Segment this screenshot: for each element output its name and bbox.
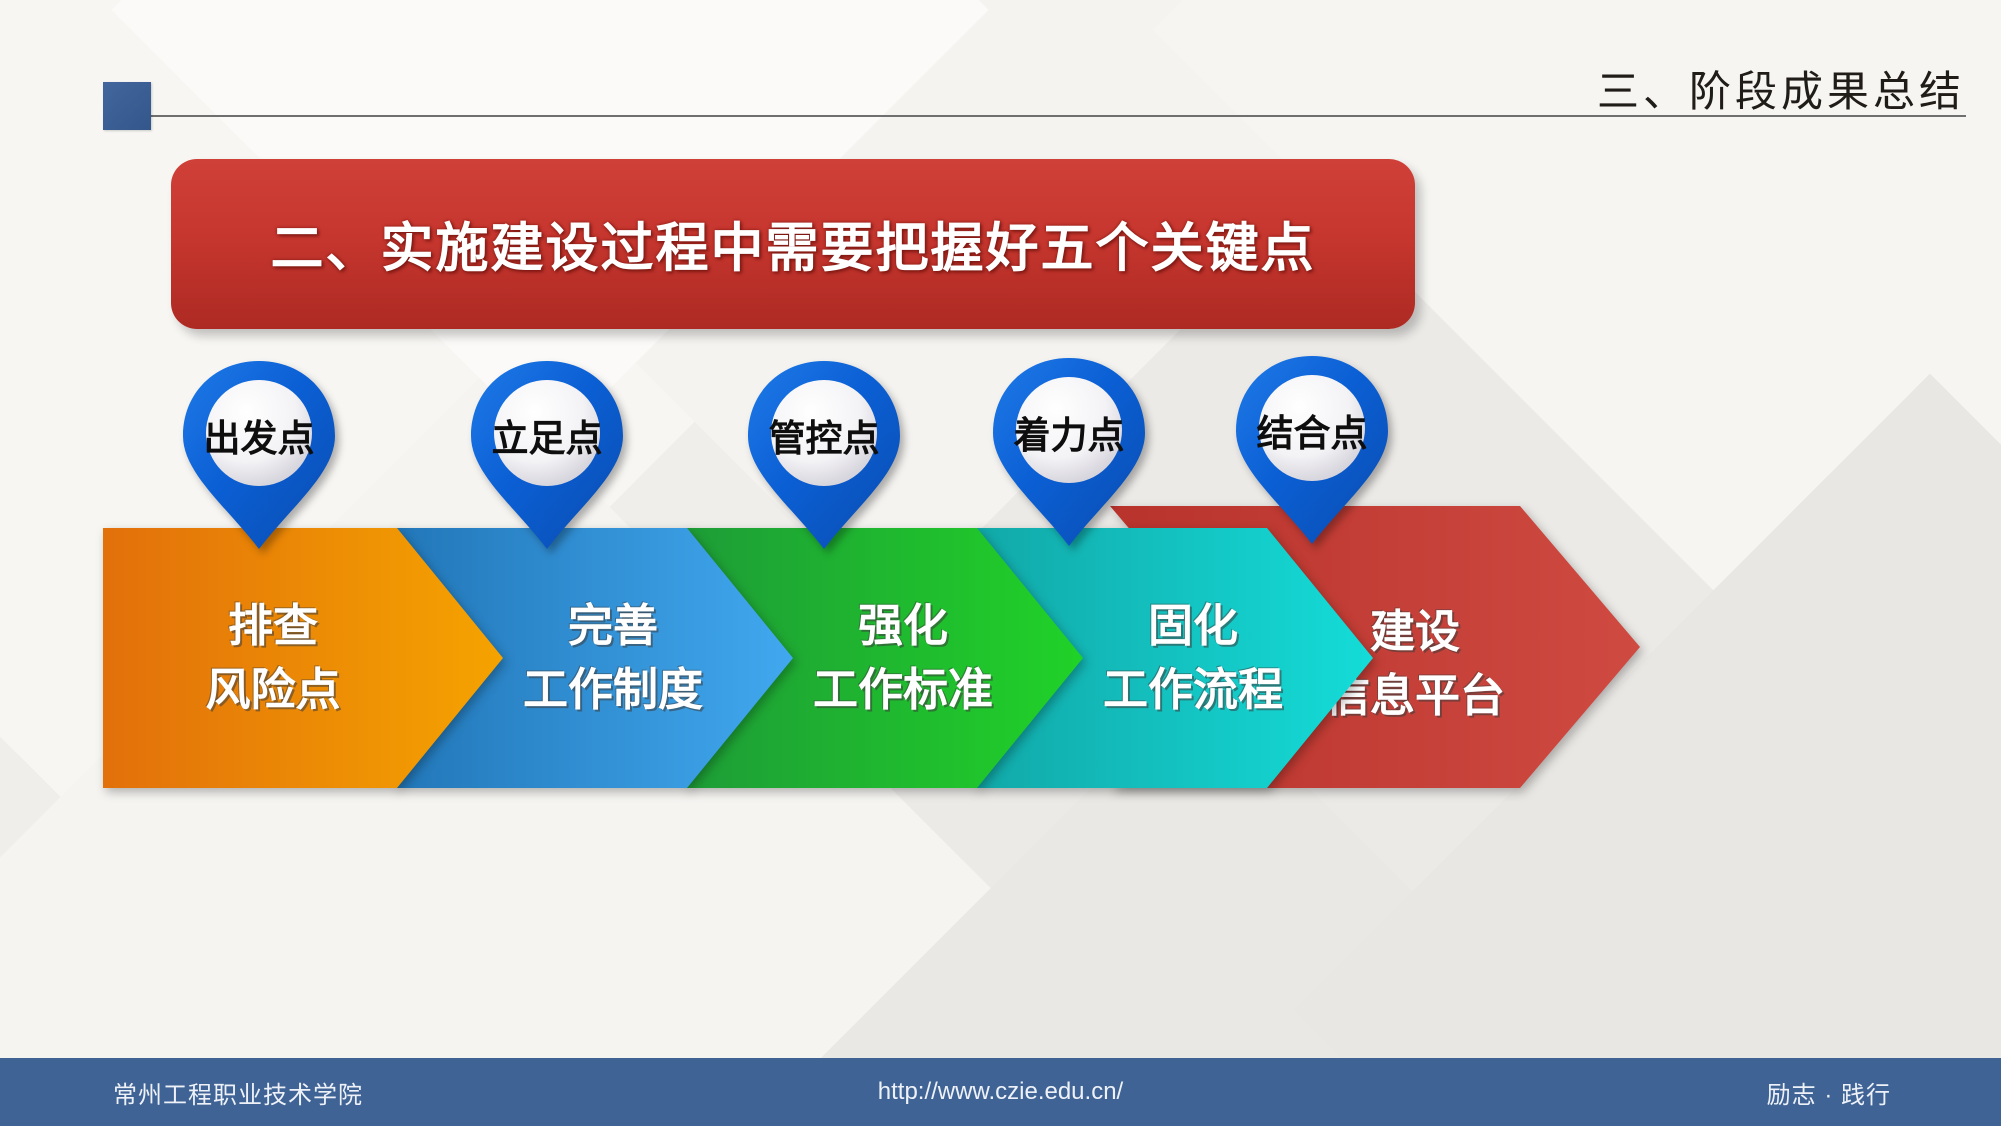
footer-url[interactable]: http://www.czie.edu.cn/ [0, 1078, 2001, 1106]
slide-title-banner: 二、实施建设过程中需要把握好五个关键点 [171, 159, 1415, 329]
map-pin-5[interactable]: 结合点 [1228, 350, 1396, 550]
slide-title-text: 二、实施建设过程中需要把握好五个关键点 [171, 206, 1415, 282]
section-title: 三、阶段成果总结 [1597, 58, 1965, 119]
map-pin-4[interactable]: 着力点 [985, 352, 1153, 552]
process-chevron-band: 排查 风险点 完善 工作制度 强化 工作标准 [0, 528, 2001, 788]
map-pin-1[interactable]: 出发点 [175, 355, 343, 555]
map-pin-label: 管控点 [740, 408, 908, 462]
map-pin-2[interactable]: 立足点 [463, 355, 631, 555]
chevron-line-1: 排查 [103, 594, 443, 658]
map-pin-label: 结合点 [1228, 403, 1396, 457]
header-accent-square [103, 82, 151, 130]
slide-footer: 常州工程职业技术学院 http://www.czie.edu.cn/ 励志 · … [0, 1058, 2001, 1126]
map-pin-label: 出发点 [175, 408, 343, 462]
footer-motto: 励志 · 践行 [1767, 1075, 1891, 1110]
chevron-line-2: 风险点 [103, 658, 443, 722]
map-pin-label: 立足点 [463, 408, 631, 462]
map-pin-label: 着力点 [985, 405, 1153, 459]
chevron-step-1[interactable]: 排查 风险点 [103, 528, 503, 788]
map-pin-3[interactable]: 管控点 [740, 355, 908, 555]
chevron-step-1-text: 排查 风险点 [103, 594, 503, 722]
